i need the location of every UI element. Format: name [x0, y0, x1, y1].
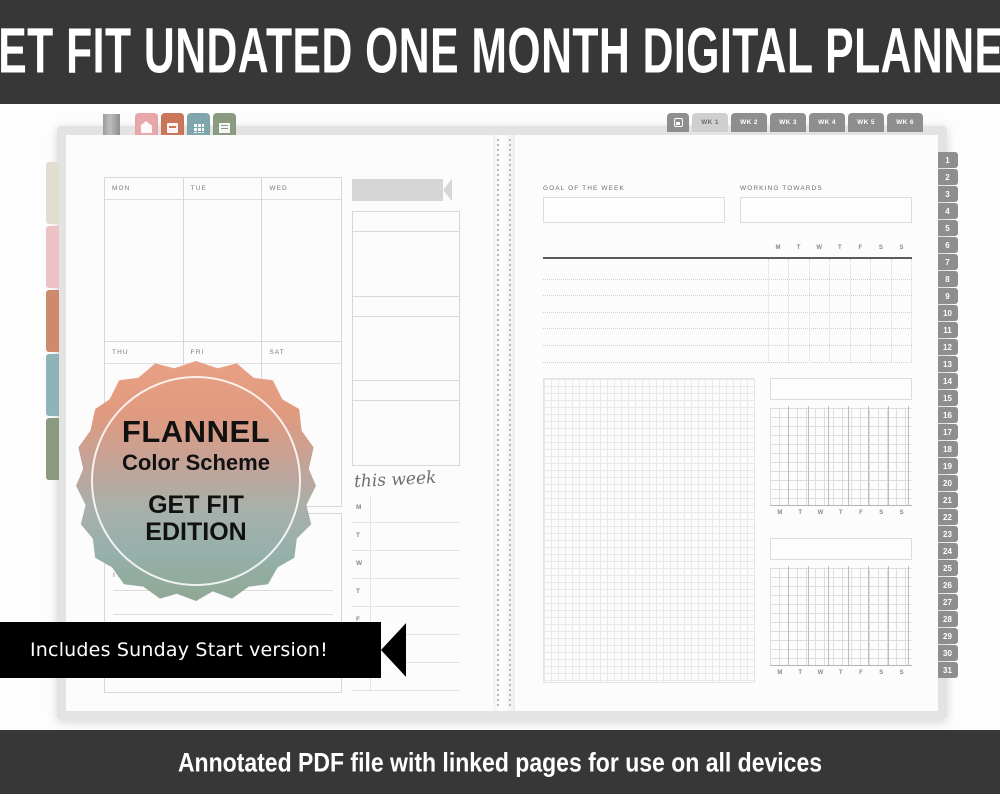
date-tab-9[interactable]: 9	[937, 288, 958, 304]
mini-chart-b-day-label: T	[831, 670, 851, 676]
date-tab-label: 14	[943, 377, 952, 386]
date-tab-label: 26	[943, 581, 952, 590]
date-tab-4[interactable]: 4	[937, 203, 958, 219]
this-week-rule	[370, 551, 371, 578]
working-towards-input[interactable]	[740, 197, 912, 223]
date-tab-label: 10	[943, 309, 952, 318]
tracker-column[interactable]	[768, 259, 788, 363]
notes-box-stack[interactable]	[352, 211, 460, 466]
mini-chart-a-day-label: T	[790, 510, 810, 516]
mini-chart-a-day-label: W	[811, 510, 831, 516]
date-tab-23[interactable]: 23	[937, 526, 958, 542]
date-tab-label: 21	[943, 496, 952, 505]
week-tab-label: WK 3	[779, 119, 797, 126]
week-tab-home[interactable]	[667, 113, 689, 132]
bottom-banner: Annotated PDF file with linked pages for…	[0, 730, 1000, 794]
badge-line-2: Color Scheme	[122, 448, 270, 478]
date-tab-label: 5	[945, 224, 949, 233]
this-week-day-letter: M	[356, 504, 361, 511]
product-photo-stage: WK 1WK 2WK 3WK 4WK 5WK 6 123456789101112…	[0, 104, 1000, 730]
week-tab-group[interactable]: WK 1WK 2WK 3WK 4WK 5WK 6	[667, 113, 923, 132]
mini-chart-b[interactable]: MTWTFSS	[770, 538, 912, 676]
day-label: THU	[112, 349, 129, 356]
date-tab-label: 30	[943, 649, 952, 658]
mini-chart-b-day-label: S	[892, 670, 912, 676]
notes-row[interactable]	[353, 297, 459, 317]
day-label: MON	[112, 185, 130, 192]
notes-ribbon-header	[352, 179, 452, 201]
tracker-column[interactable]	[809, 259, 829, 363]
goal-of-the-week-label: GOAL OF THE WEEK	[543, 185, 625, 192]
badge-line-3: GET FIT	[148, 492, 244, 519]
mini-chart-b-plot[interactable]	[770, 568, 912, 666]
this-week-row-3[interactable]: W	[352, 551, 460, 579]
date-tab-label: 28	[943, 615, 952, 624]
sunday-start-text: Includes Sunday Start version!	[30, 639, 328, 661]
day-cell-tue[interactable]: TUE	[184, 178, 263, 342]
badge-line-1: FLANNEL	[122, 416, 270, 449]
date-tab-21[interactable]: 21	[937, 492, 958, 508]
mini-chart-b-day-labels: MTWTFSS	[770, 670, 912, 676]
this-week-heading: this week	[354, 468, 437, 492]
week-tab-label: WK 6	[896, 119, 914, 126]
list-icon	[218, 122, 231, 134]
date-tab-label: 31	[943, 666, 952, 675]
date-tab-6[interactable]: 6	[937, 237, 958, 253]
mini-chart-b-day-label: F	[851, 670, 871, 676]
date-tab-label: 22	[943, 513, 952, 522]
date-tab-label: 24	[943, 547, 952, 556]
week-tab-label: WK 4	[818, 119, 836, 126]
tracker-day-label: S	[891, 245, 912, 251]
notes-row[interactable]	[353, 317, 459, 382]
grid-icon	[192, 122, 205, 134]
notes-row[interactable]	[353, 381, 459, 401]
bottom-banner-text: Annotated PDF file with linked pages for…	[178, 746, 822, 778]
date-tab-label: 19	[943, 462, 952, 471]
mini-chart-a-day-label: M	[770, 510, 790, 516]
home-icon	[674, 118, 683, 127]
day-cell-mon[interactable]: MON	[105, 178, 184, 342]
date-tab-12[interactable]: 12	[937, 339, 958, 355]
this-week-rule	[370, 495, 371, 522]
date-tab-24[interactable]: 24	[937, 543, 958, 559]
date-tab-22[interactable]: 22	[937, 509, 958, 525]
page-title: GET FIT UNDATED ONE MONTH DIGITAL PLANNE…	[0, 16, 1000, 89]
date-tab-label: 8	[945, 275, 949, 284]
working-towards-label: WORKING TOWARDS	[740, 185, 823, 192]
week-tab-wk-3[interactable]: WK 3	[770, 113, 806, 132]
tracker-day-label: M	[768, 245, 789, 251]
date-tab-label: 17	[943, 428, 952, 437]
date-tab-label: 23	[943, 530, 952, 539]
date-tab-16[interactable]: 16	[937, 407, 958, 423]
side-tab-3[interactable]	[46, 290, 59, 352]
notes-row[interactable]	[353, 232, 459, 297]
date-tab-label: 25	[943, 564, 952, 573]
date-tab-11[interactable]: 11	[937, 322, 958, 338]
mini-chart-b-day-label: S	[871, 670, 891, 676]
mini-chart-a-day-labels: MTWTFSS	[770, 510, 912, 516]
day-label: SAT	[269, 349, 284, 356]
mini-chart-a-plot[interactable]	[770, 408, 912, 506]
date-tab-15[interactable]: 15	[937, 390, 958, 406]
date-tab-29[interactable]: 29	[937, 628, 958, 644]
date-tab-5[interactable]: 5	[937, 220, 958, 236]
tracker-day-label: S	[871, 245, 892, 251]
top-banner: GET FIT UNDATED ONE MONTH DIGITAL PLANNE…	[0, 0, 1000, 104]
mini-chart-b-day-label: M	[770, 670, 790, 676]
tracker-day-headers: MTWTFSS	[768, 245, 912, 251]
day-label: WED	[269, 185, 287, 192]
week-tab-wk-6[interactable]: WK 6	[887, 113, 923, 132]
this-week-day-letter: T	[356, 532, 360, 539]
date-tab-27[interactable]: 27	[937, 594, 958, 610]
tracker-column[interactable]	[891, 259, 912, 363]
sunday-start-ribbon: Includes Sunday Start version!	[0, 622, 406, 678]
date-tab-label: 15	[943, 394, 952, 403]
date-tab-label: 12	[943, 343, 952, 352]
color-scheme-badge: FLANNEL Color Scheme GET FIT EDITION	[76, 361, 316, 601]
tracker-day-label: F	[850, 245, 871, 251]
date-tab-label: 18	[943, 445, 952, 454]
mini-chart-a-title-input[interactable]	[770, 378, 912, 400]
mini-chart-a[interactable]: MTWTFSS	[770, 378, 912, 516]
tracker-column[interactable]	[788, 259, 808, 363]
date-tab-label: 11	[943, 326, 951, 335]
date-tab-19[interactable]: 19	[937, 458, 958, 474]
tracker-day-label: W	[809, 245, 830, 251]
date-tab-group[interactable]: 1234567891011121314151617181920212223242…	[937, 152, 958, 678]
this-week-rule	[370, 579, 371, 606]
date-tab-7[interactable]: 7	[937, 254, 958, 270]
date-tab-label: 6	[945, 241, 949, 250]
week-tab-wk-5[interactable]: WK 5	[848, 113, 884, 132]
date-tab-label: 20	[943, 479, 952, 488]
date-tab-label: 3	[945, 190, 949, 199]
tracker-column[interactable]	[870, 259, 890, 363]
notes-row[interactable]	[353, 401, 459, 465]
date-tab-10[interactable]: 10	[937, 305, 958, 321]
side-tab-5[interactable]	[46, 418, 59, 480]
date-tab-label: 16	[943, 411, 952, 420]
date-tab-label: 9	[945, 292, 949, 301]
this-week-day-letter: T	[356, 588, 360, 595]
date-tab-25[interactable]: 25	[937, 560, 958, 576]
mini-chart-b-title-input[interactable]	[770, 538, 912, 560]
home-icon	[140, 122, 153, 134]
date-tab-label: 27	[943, 598, 952, 607]
day-label: TUE	[191, 185, 207, 192]
week-tab-wk-2[interactable]: WK 2	[731, 113, 767, 132]
tracker-day-label: T	[789, 245, 810, 251]
write-line[interactable]	[113, 614, 333, 615]
notes-row[interactable]	[353, 212, 459, 232]
week-tab-wk-1[interactable]: WK 1	[692, 113, 728, 132]
right-page: GOAL OF THE WEEK WORKING TOWARDS MTWTFSS	[515, 135, 938, 711]
week-tab-label: WK 2	[740, 119, 758, 126]
date-tab-31[interactable]: 31	[937, 662, 958, 678]
date-tab-20[interactable]: 20	[937, 475, 958, 491]
date-tab-label: 4	[945, 207, 949, 216]
tracker-day-label: T	[830, 245, 851, 251]
tracker-column[interactable]	[850, 259, 870, 363]
mini-chart-a-day-label: S	[871, 510, 891, 516]
badge-line-4: EDITION	[145, 519, 246, 546]
week-tab-label: WK 1	[701, 119, 719, 126]
planner-binding	[493, 135, 515, 711]
date-tab-8[interactable]: 8	[937, 271, 958, 287]
date-tab-17[interactable]: 17	[937, 424, 958, 440]
date-tab-3[interactable]: 3	[937, 186, 958, 202]
date-tab-label: 7	[945, 258, 949, 267]
date-tab-label: 29	[943, 632, 952, 641]
date-tab-30[interactable]: 30	[937, 645, 958, 661]
date-tab-14[interactable]: 14	[937, 373, 958, 389]
side-tab-group[interactable]	[46, 162, 59, 480]
side-tab-1[interactable]	[46, 162, 59, 224]
mini-chart-a-day-label: T	[831, 510, 851, 516]
day-cell-wed[interactable]: WED	[262, 178, 341, 342]
side-tab-4[interactable]	[46, 354, 59, 416]
date-tab-18[interactable]: 18	[937, 441, 958, 457]
badge-text-block: FLANNEL Color Scheme GET FIT EDITION	[76, 361, 316, 601]
side-tab-2[interactable]	[46, 226, 59, 288]
this-week-rule	[370, 523, 371, 550]
this-week-row-2[interactable]: T	[352, 523, 460, 551]
this-week-row-1[interactable]: M	[352, 495, 460, 523]
this-week-day-letter: W	[356, 560, 362, 567]
grid-notes-area[interactable]	[543, 378, 755, 683]
tracker-column[interactable]	[829, 259, 849, 363]
date-tab-label: 1	[945, 156, 949, 165]
date-tab-28[interactable]: 28	[937, 611, 958, 627]
date-tab-1[interactable]: 1	[937, 152, 958, 168]
mini-chart-a-day-label: S	[892, 510, 912, 516]
goal-of-the-week-input[interactable]	[543, 197, 725, 223]
mini-chart-a-day-label: F	[851, 510, 871, 516]
this-week-row-4[interactable]: T	[352, 579, 460, 607]
screenshot-root: GET FIT UNDATED ONE MONTH DIGITAL PLANNE…	[0, 0, 1000, 794]
date-tab-26[interactable]: 26	[937, 577, 958, 593]
date-tab-label: 13	[943, 360, 952, 369]
tracker-columns[interactable]	[768, 259, 912, 363]
mini-chart-b-day-label: T	[790, 670, 810, 676]
date-tab-2[interactable]: 2	[937, 169, 958, 185]
calendar-icon	[166, 122, 179, 134]
date-tab-13[interactable]: 13	[937, 356, 958, 372]
mini-chart-b-day-label: W	[811, 670, 831, 676]
week-tab-label: WK 5	[857, 119, 875, 126]
date-tab-label: 2	[945, 173, 949, 182]
day-label: FRI	[191, 349, 205, 356]
week-tab-wk-4[interactable]: WK 4	[809, 113, 845, 132]
